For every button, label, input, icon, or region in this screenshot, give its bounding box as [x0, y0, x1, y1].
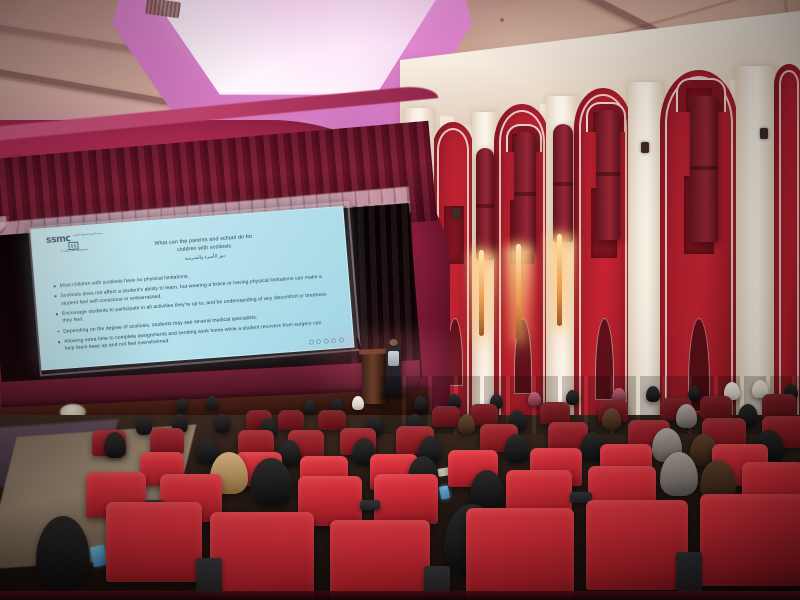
bay-rim [779, 70, 799, 426]
column-band [596, 172, 620, 176]
theater-seat-front[interactable] [106, 502, 202, 582]
column-band [690, 166, 718, 170]
theater-seat[interactable] [150, 428, 184, 454]
theater-seat[interactable] [540, 402, 570, 424]
audience-member [458, 414, 475, 434]
theater-seat[interactable] [762, 394, 796, 418]
acoustic-column [553, 124, 573, 242]
theater-seat-front[interactable] [700, 494, 800, 586]
audience-member [676, 404, 697, 428]
audience-member [566, 390, 579, 405]
audience-member [414, 396, 427, 411]
lectern-top [359, 348, 389, 354]
column-band [514, 192, 536, 196]
theater-seat[interactable] [278, 410, 304, 430]
audience-member [688, 386, 701, 401]
column-band [553, 182, 573, 186]
slide-title: What can the parents and school do for c… [118, 230, 289, 266]
audience-member [602, 408, 621, 430]
audience-member [214, 414, 230, 433]
wall-pilaster [628, 82, 664, 424]
slide-bullet-list: Most children with scoliosis have no phy… [52, 263, 333, 357]
presenter-head [389, 339, 398, 348]
wall-sconce [479, 250, 484, 336]
theater-seat[interactable] [700, 396, 732, 419]
audience-member [104, 432, 126, 458]
theater-seat[interactable] [374, 474, 438, 524]
auditorium-photo: ssmc مدينة الشيخ شخبوط الطبية مستشفى لكل… [0, 0, 800, 600]
wall-speaker-bracket [641, 142, 649, 153]
audience-member [646, 386, 660, 402]
ssmc-wordmark: ssmc [46, 234, 71, 245]
bottom-edge-band [0, 591, 800, 600]
theater-seat[interactable] [432, 406, 460, 427]
wall-sconce [557, 234, 562, 326]
acoustic-column [514, 132, 536, 254]
theater-seat-front[interactable] [586, 500, 688, 590]
audience-member [304, 400, 316, 414]
audience-member [504, 434, 529, 463]
seat-armrest [676, 552, 702, 596]
ceiling-downlight [500, 18, 504, 22]
acoustic-column [690, 96, 718, 242]
audience-member [352, 396, 364, 410]
theater-seat-front[interactable] [466, 508, 574, 600]
wall-control-panel[interactable] [760, 128, 768, 139]
wall-arched-bay [774, 64, 800, 426]
wall-sconce [516, 244, 521, 340]
theater-seat[interactable] [318, 410, 346, 430]
audience-member [206, 396, 218, 410]
ssmc-logo-tagline: مستشفى لكل الإمارات [60, 247, 88, 253]
presenter-shirt [388, 351, 399, 366]
wall-control-panel[interactable] [452, 208, 460, 219]
theater-seat-front[interactable] [330, 520, 430, 600]
acoustic-column [476, 148, 494, 260]
wall-pilaster [736, 66, 776, 426]
audience-member [176, 398, 188, 412]
seat-armrest [360, 500, 380, 510]
column-band [476, 204, 494, 208]
theater-seat-front[interactable] [210, 512, 314, 600]
acoustic-column [596, 110, 620, 240]
audience-member [528, 392, 541, 406]
ssmc-logo-arabic: مدينة الشيخ شخبوط الطبية [73, 232, 102, 238]
